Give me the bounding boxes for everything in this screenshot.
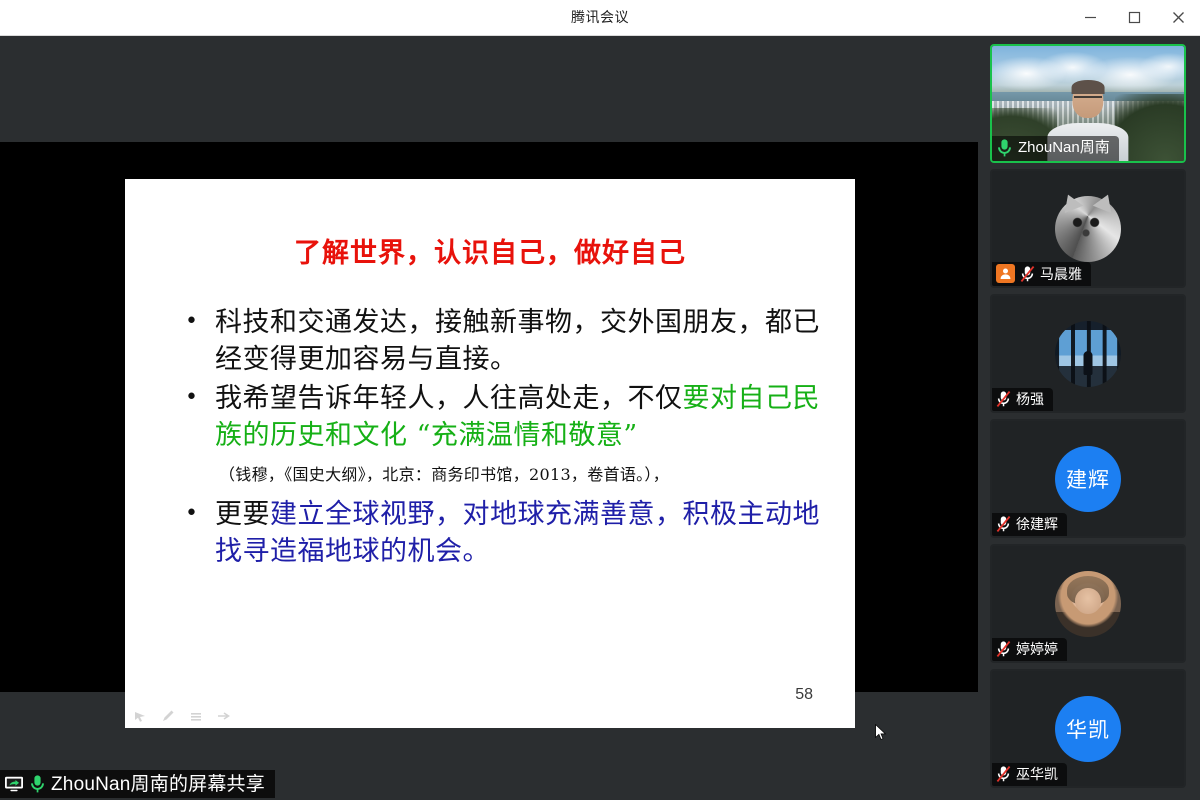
slide-title: 了解世界，认识自己，做好自己: [125, 231, 855, 270]
title-bar: 腾讯会议: [0, 0, 1200, 36]
close-button[interactable]: [1156, 0, 1200, 35]
microphone-muted-icon: [1020, 265, 1035, 283]
pen-icon[interactable]: [158, 707, 178, 725]
bullet-2-black-text: 我希望告诉年轻人，人往高处走，不仅: [215, 383, 683, 414]
mouse-cursor: [875, 724, 887, 741]
slide-bullet-2: 我希望告诉年轻人，人往高处走，不仅要对自己民族的历史和文化 “充满温情和敬意”: [167, 380, 827, 454]
avatar: 建辉: [1055, 446, 1121, 512]
slide-citation: （钱穆，《国史大纲》，北京：商务印书馆，2013，卷首语。），: [167, 460, 827, 490]
slide-bullet-1: 科技和交通发达，接触新事物，交外国朋友，都已经变得更加容易与直接。: [167, 304, 827, 378]
microphone-muted-icon: [996, 515, 1011, 533]
screen-share-banner: ZhouNan周南的屏幕共享: [0, 770, 275, 798]
menu-icon[interactable]: [186, 707, 206, 725]
participant-tile-wuhuakai[interactable]: 华凯 巫华凯: [990, 669, 1186, 788]
window-controls: [1068, 0, 1200, 35]
participant-tile-machenya[interactable]: 马晨雅: [990, 169, 1186, 288]
avatar: [1055, 196, 1121, 262]
shared-screen-stage[interactable]: 了解世界，认识自己，做好自己 科技和交通发达，接触新事物，交外国朋友，都已经变得…: [0, 36, 978, 800]
participant-tile-tingtingting[interactable]: 婷婷婷: [990, 544, 1186, 663]
participant-footer: 马晨雅: [992, 262, 1091, 286]
participant-name: 巫华凯: [1016, 765, 1058, 783]
microphone-muted-icon: [996, 765, 1011, 783]
window-title: 腾讯会议: [0, 0, 1200, 35]
slide-page-number: 58: [795, 686, 813, 704]
microphone-muted-icon: [996, 390, 1011, 408]
microphone-on-icon: [29, 774, 46, 794]
avatar: [1055, 321, 1121, 387]
participant-tile-yangqiang[interactable]: 杨强: [990, 294, 1186, 413]
microphone-muted-icon: [996, 640, 1011, 658]
screen-share-label: ZhouNan周南的屏幕共享: [51, 775, 265, 794]
host-person-icon: [996, 264, 1015, 283]
screen-share-icon: [4, 775, 24, 793]
tencent-meeting-window: 腾讯会议 了解世界，认识自己，做好自己 科技和交通发达，接触新事物，交外国朋友，…: [0, 0, 1200, 800]
participant-footer: ZhouNan周南: [992, 136, 1119, 161]
pointer-icon[interactable]: [130, 707, 150, 725]
presenter-toolbar[interactable]: [130, 707, 234, 725]
participant-tile-zhounan[interactable]: ZhouNan周南: [990, 44, 1186, 163]
participant-name: 徐建辉: [1016, 515, 1058, 533]
participant-sidebar[interactable]: ZhouNan周南: [978, 36, 1200, 800]
participant-name: 杨强: [1016, 390, 1044, 408]
bullet-3-blue-text: 建立全球视野，对地球充满善意，积极主动地找寻造福地球的机会。: [215, 499, 820, 567]
slide-bullet-3: 更要建立全球视野，对地球充满善意，积极主动地找寻造福地球的机会。: [167, 496, 827, 570]
bullet-3-lead-text: 更要: [215, 499, 270, 530]
microphone-on-icon: [996, 138, 1013, 158]
minimize-button[interactable]: [1068, 0, 1112, 35]
avatar: [1055, 571, 1121, 637]
participant-name: 马晨雅: [1040, 265, 1082, 283]
slide-body: 科技和交通发达，接触新事物，交外国朋友，都已经变得更加容易与直接。 我希望告诉年…: [167, 304, 827, 572]
participant-footer: 杨强: [992, 388, 1053, 411]
maximize-button[interactable]: [1112, 0, 1156, 35]
participant-name: 婷婷婷: [1016, 640, 1058, 658]
participant-footer: 巫华凯: [992, 763, 1067, 786]
participant-name: ZhouNan周南: [1018, 139, 1110, 157]
next-arrow-icon[interactable]: [214, 707, 234, 725]
avatar: 华凯: [1055, 696, 1121, 762]
participant-tile-xujianhui[interactable]: 建辉 徐建辉: [990, 419, 1186, 538]
powerpoint-slide[interactable]: 了解世界，认识自己，做好自己 科技和交通发达，接触新事物，交外国朋友，都已经变得…: [125, 179, 855, 728]
participant-footer: 婷婷婷: [992, 638, 1067, 661]
participant-footer: 徐建辉: [992, 513, 1067, 536]
